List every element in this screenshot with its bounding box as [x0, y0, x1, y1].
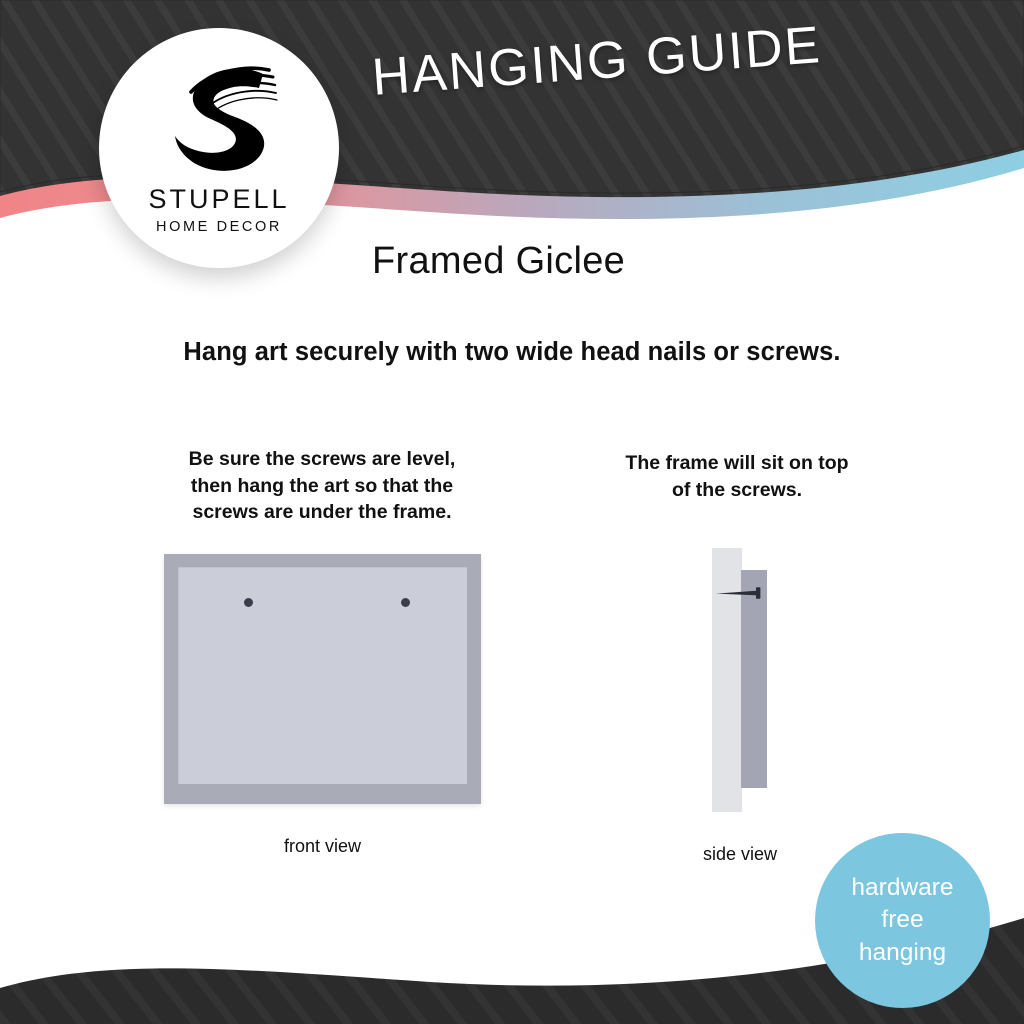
- side-view-label: side view: [660, 844, 820, 865]
- main-instruction-text: Hang art securely with two wide head nai…: [0, 338, 1024, 367]
- hardware-free-hanging-badge: hardware free hanging: [815, 833, 990, 1008]
- page-title: HANGING GUIDE: [370, 10, 893, 108]
- caption-line: Be sure the screws are level,: [136, 446, 508, 473]
- nail-icon: [714, 585, 770, 601]
- screw-dot-icon: [244, 598, 253, 607]
- front-view-caption: Be sure the screws are level, then hang …: [136, 446, 508, 526]
- badge-line: free: [881, 904, 923, 937]
- screw-dot-icon: [401, 598, 410, 607]
- side-view-caption: The frame will sit on top of the screws.: [592, 450, 882, 503]
- side-view-frame: [741, 570, 767, 788]
- logo-brand-subtitle: HOME DECOR: [156, 220, 282, 235]
- logo-brand-name: STUPELL: [148, 186, 289, 213]
- badge-line: hanging: [859, 937, 946, 970]
- front-view-label: front view: [164, 836, 481, 857]
- product-type-title: Framed Giclee: [372, 240, 625, 283]
- side-view-frame-diagram: [705, 545, 801, 817]
- caption-line: The frame will sit on top: [592, 450, 882, 477]
- stupell-swoosh-icon: [155, 58, 283, 180]
- caption-line: of the screws.: [592, 477, 882, 504]
- badge-line: hardware: [851, 872, 953, 905]
- caption-line: screws are under the frame.: [136, 499, 508, 526]
- front-view-mat-area: [178, 567, 467, 784]
- hanging-guide-page: STUPELL HOME DECOR HANGING GUIDE Framed …: [0, 0, 1024, 1024]
- front-view-frame-diagram: [164, 554, 481, 804]
- caption-line: then hang the art so that the: [136, 473, 508, 500]
- brand-logo-badge: STUPELL HOME DECOR: [99, 28, 339, 268]
